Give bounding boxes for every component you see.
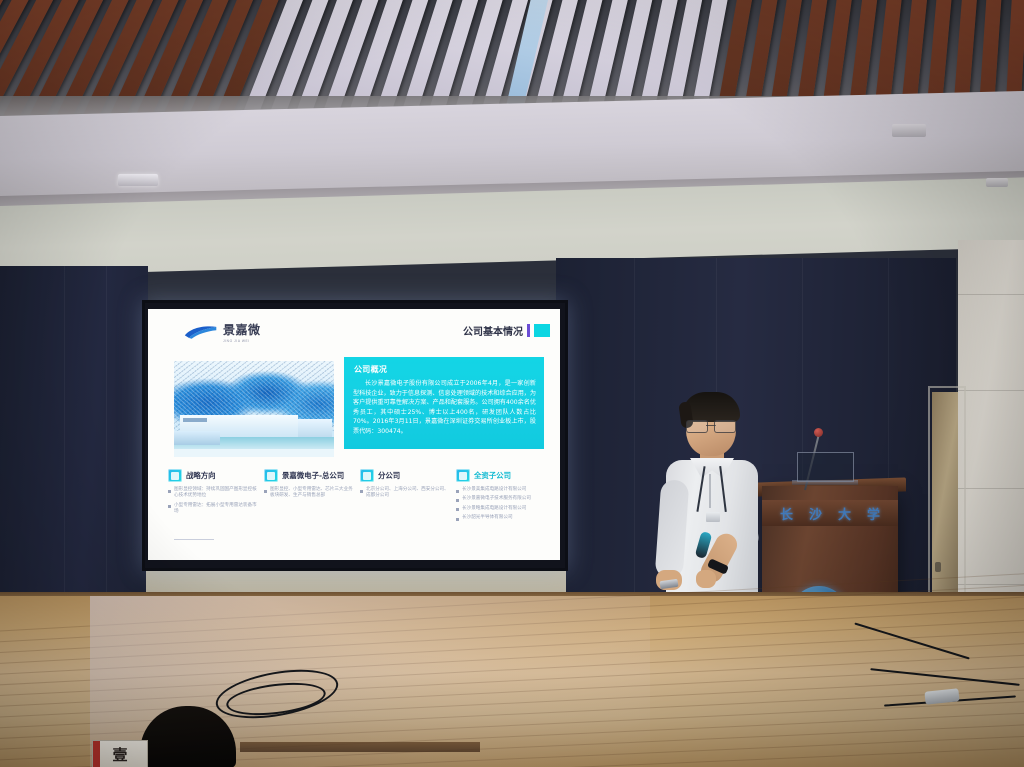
bullet-marker — [264, 490, 267, 493]
column-title: 全资子公司 — [474, 470, 511, 481]
bullet-marker — [456, 518, 459, 521]
sign-accent — [93, 741, 100, 767]
accent-block — [534, 324, 550, 337]
ceiling-vent — [892, 124, 926, 137]
name-badge — [706, 512, 720, 522]
foreground-seat-back — [240, 742, 480, 752]
podium-char: 沙 — [809, 504, 822, 523]
bullet-text: 长沙景略集成电路设计有限公司 — [462, 506, 526, 512]
bullet-marker — [168, 505, 171, 508]
branch-icon — [360, 469, 374, 482]
column-strategy: 战略方向 图形显控领域：持续巩固国产图形显控核心技术优势地位 小型专用雷达：拓展… — [168, 469, 258, 525]
bullet-marker — [456, 490, 459, 493]
blue-swoosh-logo-icon — [184, 324, 218, 340]
bullet-text: 长沙景美集成电路设计有限公司 — [462, 487, 526, 493]
column-title: 景嘉微电子-总公司 — [282, 470, 344, 481]
slide-header: 景嘉微 JING JIA WEI 公司基本情况 — [148, 309, 560, 347]
company-logo: 景嘉微 JING JIA WEI — [184, 321, 261, 343]
podium-char: 大 — [838, 504, 851, 523]
logo-brand-text: 景嘉微 — [223, 323, 261, 337]
microphone-head-icon — [814, 428, 823, 437]
bullet-text: 长沙韶光半导体有限公司 — [462, 515, 513, 521]
company-overview-panel: 公司概况 长沙景嘉微电子股份有限公司成立于2006年4月，是一家创新型科技企业，… — [344, 357, 544, 449]
bullet-text: 图形显控、小型专用雷达、芯片三大业务板块研发、生产与销售总部 — [270, 487, 354, 500]
column-subsidiary: 全资子公司 长沙景美集成电路设计有限公司 长沙景嘉微电子技术服务有限公司 长沙景… — [456, 469, 546, 525]
slide-columns: 战略方向 图形显控领域：持续巩固国产图形显控核心技术优势地位 小型专用雷达：拓展… — [168, 469, 546, 525]
bullet-text: 北京分公司、上海分公司、西安分公司、成都分公司 — [366, 487, 450, 500]
bullet-text: 长沙景嘉微电子技术服务有限公司 — [462, 496, 531, 502]
podium-char: 长 — [780, 504, 793, 523]
podium-institution-name: 长 沙 大 学 — [772, 504, 888, 523]
bullet-text: 图形显控领域：持续巩固国产图形显控核心技术优势地位 — [174, 487, 258, 500]
column-headquarters: 景嘉微电子-总公司 图形显控、小型专用雷达、芯片三大业务板块研发、生产与销售总部 — [264, 469, 354, 525]
projection-screen: 景嘉微 JING JIA WEI 公司基本情况 — [142, 300, 568, 571]
podium-char: 学 — [867, 504, 880, 523]
bullet-marker — [456, 499, 459, 502]
wall-panel-left — [0, 266, 148, 640]
bullet-marker — [168, 490, 171, 493]
sign-text: 壹 — [112, 744, 127, 765]
presentation-scene: 景嘉微 JING JIA WEI 公司基本情况 — [0, 0, 1024, 767]
recessed-light-icon — [118, 174, 158, 186]
bullet-marker — [360, 490, 363, 493]
laptop-keyboard — [792, 480, 858, 485]
campus-photo — [174, 361, 334, 457]
accent-bar — [527, 324, 530, 337]
section-title: 公司基本情况 — [463, 323, 523, 338]
column-title: 战略方向 — [186, 470, 216, 481]
door-handle-icon[interactable] — [935, 562, 941, 572]
slide-divider — [174, 539, 214, 540]
headquarters-icon — [264, 469, 278, 482]
panel-title: 公司概况 — [354, 364, 387, 375]
panel-body-text: 长沙景嘉微电子股份有限公司成立于2006年4月，是一家创新型科技企业，致力于信息… — [353, 379, 536, 437]
slide-surface: 景嘉微 JING JIA WEI 公司基本情况 — [148, 309, 560, 560]
column-branch: 分公司 北京分公司、上海分公司、西安分公司、成都分公司 — [360, 469, 450, 525]
logo-pinyin-text: JING JIA WEI — [223, 339, 261, 343]
laptop-screen — [797, 452, 854, 482]
ceiling-vent — [986, 178, 1008, 187]
eyeglasses-icon — [686, 420, 736, 431]
shirt-placket — [709, 474, 711, 508]
bullet-text: 小型专用雷达：拓展小型专用雷达装备市场 — [174, 503, 258, 516]
row-number-sign: 壹 — [92, 740, 148, 767]
presenter-hand-right — [696, 570, 716, 588]
presenter-laptop[interactable] — [792, 452, 854, 486]
subsidiary-icon — [456, 469, 470, 482]
slide-section-header: 公司基本情况 — [463, 323, 550, 338]
photo-caption-strip — [183, 418, 207, 422]
column-title: 分公司 — [378, 470, 400, 481]
strategy-icon — [168, 469, 182, 482]
bullet-marker — [456, 508, 459, 511]
